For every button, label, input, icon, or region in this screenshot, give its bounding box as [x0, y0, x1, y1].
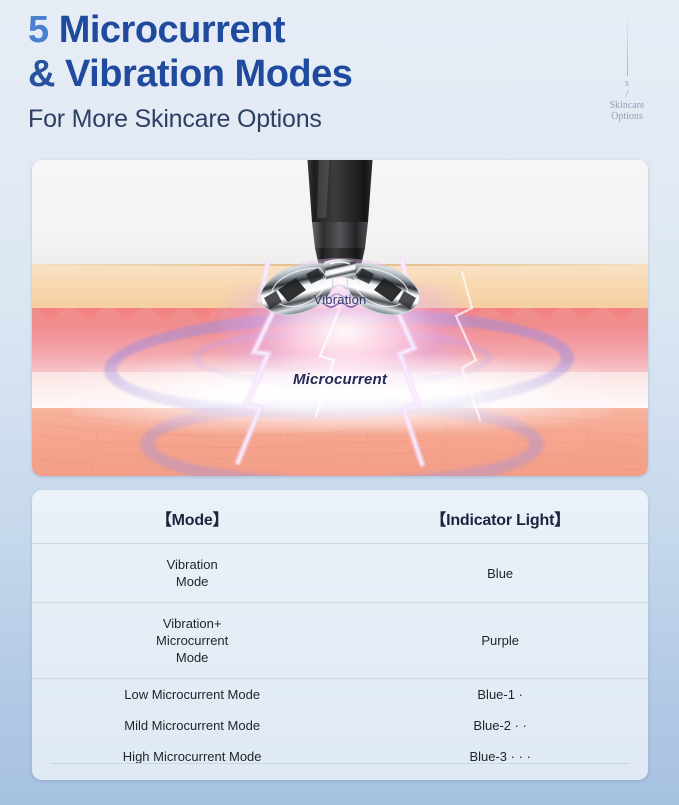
- watermark-s: s: [587, 78, 667, 89]
- cell-indicator: Blue-3 · · ·: [352, 741, 648, 772]
- table-row: High Microcurrent Mode Blue-3 · · ·: [32, 741, 648, 772]
- subheadline: For More Skincare Options: [28, 104, 679, 134]
- headline-word-vibration-modes: Vibration Modes: [65, 53, 352, 95]
- column-header-mode: 【Mode】: [32, 490, 352, 544]
- table-header-row: 【Mode】 【Indicator Light】: [32, 490, 648, 544]
- watermark-line-1: Skincare: [587, 100, 667, 111]
- vibration-label: Vibration: [32, 292, 648, 307]
- table-row: Vibration Mode Blue: [32, 544, 648, 603]
- cell-indicator: Purple: [352, 603, 648, 679]
- brand-watermark: s / Skincare Options: [587, 18, 667, 122]
- skin-cross-section-illustration: Vibration Microcurrent: [32, 160, 648, 476]
- table-footer-divider: [50, 763, 630, 764]
- cell-mode: Low Microcurrent Mode: [32, 679, 352, 711]
- cell-indicator: Blue-1 ·: [352, 679, 648, 711]
- column-header-indicator: 【Indicator Light】: [352, 490, 648, 544]
- headline-line-2: & Vibration Modes: [28, 52, 679, 96]
- table-body: Vibration Mode Blue Vibration+ Microcurr…: [32, 544, 648, 773]
- watermark-vertical-rule: [627, 18, 628, 76]
- cell-mode: Vibration+ Microcurrent Mode: [32, 603, 352, 679]
- cell-indicator: Blue: [352, 544, 648, 603]
- microcurrent-label: Microcurrent: [32, 371, 648, 388]
- cell-mode: High Microcurrent Mode: [32, 741, 352, 772]
- headline-line-1: 5 Microcurrent: [28, 8, 679, 52]
- mode-indicator-table-panel: 【Mode】 【Indicator Light】 Vibration Mode …: [32, 490, 648, 780]
- watermark-slash: /: [587, 89, 667, 100]
- infographic-page: 5 Microcurrent & Vibration Modes For Mor…: [0, 0, 679, 805]
- cell-mode: Vibration Mode: [32, 544, 352, 603]
- headline-ampersand: &: [28, 53, 55, 95]
- mode-table: 【Mode】 【Indicator Light】 Vibration Mode …: [32, 490, 648, 772]
- header: 5 Microcurrent & Vibration Modes For Mor…: [28, 8, 679, 134]
- headline-word-microcurrent: Microcurrent: [59, 9, 285, 51]
- table-row: Mild Microcurrent Mode Blue-2 · ·: [32, 710, 648, 741]
- table-row: Vibration+ Microcurrent Mode Purple: [32, 603, 648, 679]
- headline-count: 5: [28, 9, 49, 51]
- cell-mode: Mild Microcurrent Mode: [32, 710, 352, 741]
- watermark-line-2: Options: [587, 111, 667, 122]
- table-row: Low Microcurrent Mode Blue-1 ·: [32, 679, 648, 711]
- cell-indicator: Blue-2 · ·: [352, 710, 648, 741]
